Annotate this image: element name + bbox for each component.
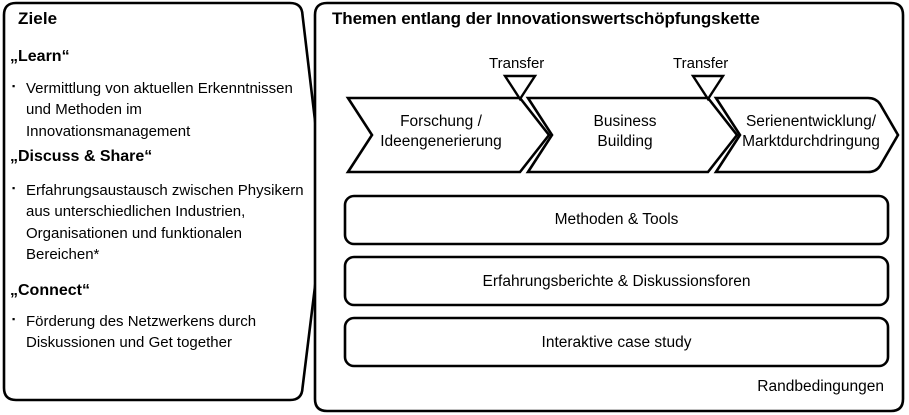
value-chain-label-3-line1: Serienentwicklung/ xyxy=(722,112,900,132)
goals-bullet-text-discuss-share: Erfahrungsaustausch zwischen Physikern a… xyxy=(26,180,304,265)
offer-bar-label-case-study: Interaktive case study xyxy=(345,334,888,352)
offer-bar-label-methoden-tools: Methoden & Tools xyxy=(345,211,888,229)
diagram-canvas: Ziele „Learn“ ▪ Vermittlung von aktuelle… xyxy=(0,0,909,415)
transfer-label-1: Transfer xyxy=(489,55,544,73)
topics-panel-footnote: Randbedingungen xyxy=(757,378,884,396)
value-chain-label-3-line2: Marktdurchdringung xyxy=(722,132,900,152)
goals-section-heading-connect: „Connect“ xyxy=(10,282,90,301)
value-chain-label-2: Business Building xyxy=(545,112,705,153)
offer-bar-label-erfahrungsberichte: Erfahrungsberichte & Diskussionsforen xyxy=(345,273,888,291)
goals-section-heading-learn: „Learn“ xyxy=(10,48,70,67)
value-chain-label-3: Serienentwicklung/ Marktdurchdringung xyxy=(722,112,900,153)
goals-bullet-discuss-share: ▪ Erfahrungsaustausch zwischen Physikern… xyxy=(12,180,304,265)
goals-section-heading-discuss-share: „Discuss & Share“ xyxy=(10,148,152,167)
transfer-label-2: Transfer xyxy=(673,55,728,73)
goals-bullet-connect: ▪ Förderung des Netzwerkens durch Diskus… xyxy=(12,311,304,354)
topics-panel-title: Themen entlang der Innovationswertschöpf… xyxy=(332,9,760,29)
square-bullet-icon: ▪ xyxy=(12,311,26,354)
square-bullet-icon: ▪ xyxy=(12,78,26,142)
goals-bullet-text-connect: Förderung des Netzwerkens durch Diskussi… xyxy=(26,311,304,354)
value-chain-label-2-line2: Building xyxy=(545,132,705,152)
goals-bullet-text-learn: Vermittlung von aktuellen Erkenntnissen … xyxy=(26,78,304,142)
value-chain-label-1: Forschung / Ideengenerierung xyxy=(356,112,526,153)
goals-bullet-learn: ▪ Vermittlung von aktuellen Erkenntnisse… xyxy=(12,78,304,142)
value-chain-label-1-line1: Forschung / xyxy=(356,112,526,132)
value-chain-label-2-line1: Business xyxy=(545,112,705,132)
goals-panel-title: Ziele xyxy=(18,9,57,29)
value-chain-label-1-line2: Ideengenerierung xyxy=(356,132,526,152)
square-bullet-icon: ▪ xyxy=(12,180,26,265)
